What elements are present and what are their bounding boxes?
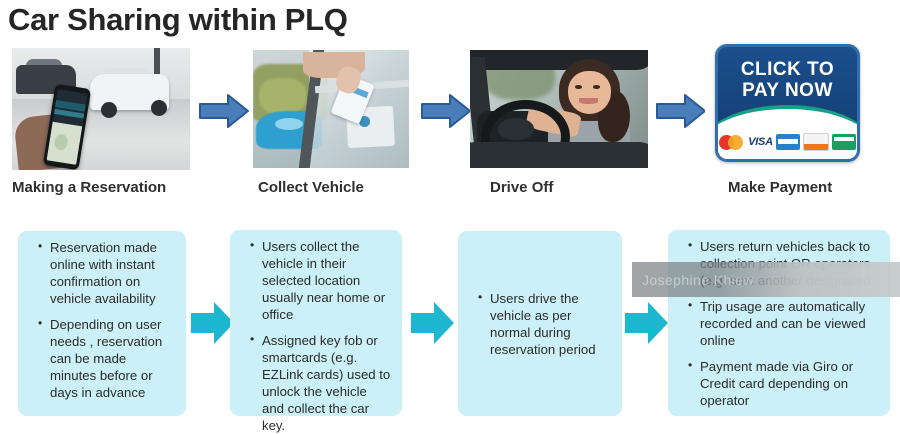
flow-arrow-bottom-3 xyxy=(624,299,670,347)
bullet-item: Payment made via Giro or Credit card dep… xyxy=(688,358,880,409)
collection-details-box: Users collect the vehicle in their selec… xyxy=(230,230,402,416)
debit-card-icon xyxy=(832,134,856,150)
step-caption-payment: Make Payment xyxy=(728,179,832,196)
discover-icon xyxy=(803,133,829,151)
click-to-pay-now-graphic[interactable]: CLICK TO PAY NOW VISA xyxy=(705,38,870,168)
reservation-details-box: Reservation made online with instant con… xyxy=(18,231,186,416)
pay-now-line-2: PAY NOW xyxy=(718,80,857,101)
bullet-item: Reservation made online with instant con… xyxy=(38,239,176,307)
bullet-item: Trip usage are automatically recorded an… xyxy=(688,298,880,349)
bullet-item: Users return vehicles back to collection… xyxy=(688,238,880,289)
visa-icon: VISA xyxy=(748,136,772,148)
flow-arrow-top-2 xyxy=(420,92,472,130)
slide-canvas: Car Sharing within PLQ xyxy=(0,0,900,426)
reservation-phone-photo xyxy=(12,48,190,170)
amex-icon xyxy=(776,134,800,150)
driving-details-box: Users drive the vehicle as per normal du… xyxy=(458,231,622,416)
return-payment-details-box: Users return vehicles back to collection… xyxy=(668,230,890,416)
bullet-item: Depending on user needs , reservation ca… xyxy=(38,316,176,401)
step-caption-reservation: Making a Reservation xyxy=(12,179,166,196)
step-caption-drive: Drive Off xyxy=(490,179,553,196)
mastercard-icon xyxy=(719,134,745,151)
pay-now-line-1: CLICK TO xyxy=(718,59,857,80)
bullet-item: Assigned key fob or smartcards (e.g. EZL… xyxy=(250,332,392,434)
bullet-item: Users collect the vehicle in their selec… xyxy=(250,238,392,323)
collect-vehicle-card-photo xyxy=(253,50,409,168)
page-title: Car Sharing within PLQ xyxy=(8,2,348,38)
woman-driving-photo xyxy=(470,50,648,168)
flow-arrow-top-1 xyxy=(198,92,250,130)
step-caption-collect: Collect Vehicle xyxy=(258,179,364,196)
bullet-item: Users drive the vehicle as per normal du… xyxy=(478,290,612,358)
flow-arrow-top-3 xyxy=(655,92,707,130)
flow-arrow-bottom-2 xyxy=(410,299,456,347)
